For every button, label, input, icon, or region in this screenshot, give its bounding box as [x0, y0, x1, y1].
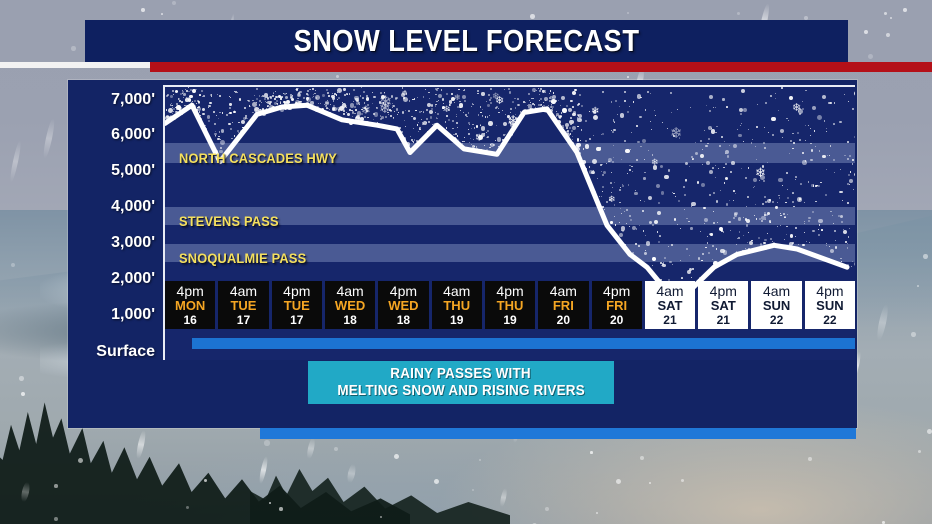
timeline-cell[interactable]: 4pmSUN22: [805, 281, 855, 329]
forecast-panel: 7,000'6,000'5,000'4,000'3,000'2,000'1,00…: [68, 80, 857, 428]
cell-day: THU: [443, 299, 470, 313]
pass-label: STEVENS PASS: [179, 214, 279, 229]
timeline-cell[interactable]: 4amSAT21: [645, 281, 695, 329]
pass-label: NORTH CASCADES HWY: [179, 151, 337, 166]
y-axis-label: 2,000': [111, 270, 155, 288]
cell-time: 4pm: [603, 284, 630, 299]
cell-time: 4pm: [496, 284, 523, 299]
weather-graphic: SNOW LEVEL FORECAST 7,000'6,000'5,000'4,…: [0, 0, 932, 524]
cell-time: 4am: [550, 284, 577, 299]
cell-date: 21: [663, 314, 676, 327]
cell-time: 4pm: [177, 284, 204, 299]
cell-day: MON: [175, 299, 205, 313]
title-bar: SNOW LEVEL FORECAST: [85, 20, 848, 62]
timeline-cell[interactable]: 4amSUN22: [751, 281, 801, 329]
cell-time: 4am: [230, 284, 257, 299]
cell-day: SUN: [763, 299, 790, 313]
cell-date: 16: [183, 314, 196, 327]
cell-day: WED: [388, 299, 418, 313]
timeline-cell[interactable]: 4pmMON16: [165, 281, 215, 329]
y-axis: 7,000'6,000'5,000'4,000'3,000'2,000'1,00…: [68, 80, 163, 428]
red-accent-stripe: [150, 62, 932, 72]
cell-date: 18: [343, 314, 356, 327]
cell-time: 4pm: [816, 284, 843, 299]
timeline-cell[interactable]: 4pmSAT21: [698, 281, 748, 329]
cell-date: 17: [290, 314, 303, 327]
cell-date: 20: [610, 314, 623, 327]
cell-date: 17: [237, 314, 250, 327]
timeline-cell[interactable]: 4amTUE17: [218, 281, 268, 329]
cell-time: 4am: [656, 284, 683, 299]
cell-time: 4am: [336, 284, 363, 299]
page-title: SNOW LEVEL FORECAST: [294, 23, 640, 59]
y-axis-label: Surface: [96, 343, 155, 361]
cell-day: SAT: [657, 299, 682, 313]
timeline-row: 4pmMON164amTUE174pmTUE174amWED184pmWED18…: [165, 281, 855, 329]
cell-day: FRI: [606, 299, 627, 313]
cell-date: 19: [450, 314, 463, 327]
bottom-blue-bar: [260, 428, 856, 439]
panel-blue-bar: [192, 338, 855, 349]
cell-day: WED: [335, 299, 365, 313]
callout-line-1: RAINY PASSES WITH: [391, 366, 532, 382]
y-axis-label: 4,000': [111, 198, 155, 216]
cell-date: 18: [397, 314, 410, 327]
cell-time: 4pm: [710, 284, 737, 299]
cell-date: 22: [770, 314, 783, 327]
y-axis-label: 7,000': [111, 91, 155, 109]
cell-time: 4am: [763, 284, 790, 299]
timeline-cell[interactable]: 4amFRI20: [538, 281, 588, 329]
rain-callout: RAINY PASSES WITH MELTING SNOW AND RISIN…: [308, 361, 614, 404]
timeline-cell[interactable]: 4pmTHU19: [485, 281, 535, 329]
timeline-cell[interactable]: 4pmWED18: [378, 281, 428, 329]
cell-day: THU: [497, 299, 524, 313]
cell-date: 20: [557, 314, 570, 327]
cell-day: SUN: [816, 299, 843, 313]
cell-day: TUE: [284, 299, 310, 313]
y-axis-label: 1,000': [111, 306, 155, 324]
y-axis-label: 3,000': [111, 234, 155, 252]
timeline-cell[interactable]: 4amWED18: [325, 281, 375, 329]
y-axis-label: 6,000': [111, 126, 155, 144]
callout-line-2: MELTING SNOW AND RISING RIVERS: [337, 383, 585, 399]
cell-day: SAT: [711, 299, 736, 313]
cell-date: 21: [717, 314, 730, 327]
cell-time: 4pm: [390, 284, 417, 299]
cell-day: TUE: [230, 299, 256, 313]
y-axis-label: 5,000': [111, 162, 155, 180]
cell-day: FRI: [553, 299, 574, 313]
timeline-cell[interactable]: 4pmFRI20: [592, 281, 642, 329]
pass-label: SNOQUALMIE PASS: [179, 251, 306, 266]
timeline-cell[interactable]: 4amTHU19: [432, 281, 482, 329]
cell-time: 4am: [443, 284, 470, 299]
cell-date: 22: [823, 314, 836, 327]
timeline-cell[interactable]: 4pmTUE17: [272, 281, 322, 329]
cell-time: 4pm: [283, 284, 310, 299]
cell-date: 19: [503, 314, 516, 327]
